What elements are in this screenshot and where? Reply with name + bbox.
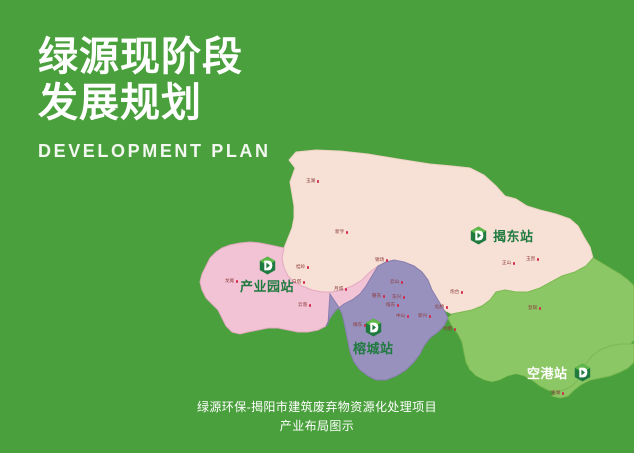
caption-line-2: 产业布局图示 (0, 417, 634, 436)
green-leaf-logo-icon (470, 226, 487, 245)
city-marker: 玉湖 (306, 179, 319, 184)
development-plan-poster: 绿源现阶段 发展规划 DEVELOPMENT PLAN 揭东站 产业园站 (0, 0, 634, 453)
city-marker: 云落 (298, 303, 311, 308)
station-label-jiedong: 揭东站 (493, 226, 534, 245)
green-leaf-logo-icon (574, 363, 591, 382)
station-label-rongcheng: 榕城站 (353, 341, 394, 356)
city-marker: 新亨 (335, 230, 348, 235)
city-marker: 月城 (334, 287, 347, 292)
caption-block: 绿源环保-揭阳市建筑废弃物资源化处理项目 产业布局图示 (0, 398, 634, 436)
green-leaf-logo-icon (259, 256, 276, 275)
page-subtitle-english: DEVELOPMENT PLAN (38, 140, 271, 162)
city-marker: 榕东 (386, 303, 399, 308)
city-marker: 锡场 (375, 258, 388, 263)
title-block: 绿源现阶段 发展规划 DEVELOPMENT PLAN (38, 34, 271, 162)
city-marker: 桂岭 (296, 265, 309, 270)
page-title-line-1: 绿源现阶段 (38, 34, 271, 80)
city-marker: 玉窖 (526, 257, 539, 262)
green-leaf-logo-icon (365, 318, 382, 337)
station-marker-jiedong[interactable]: 揭东站 (470, 226, 534, 245)
city-marker: 登岗 (528, 306, 541, 311)
station-label-konggang: 空港站 (527, 363, 568, 382)
caption-line-1: 绿源环保-揭阳市建筑废弃物资源化处理项目 (0, 398, 634, 417)
station-marker-chanyeyuan[interactable]: 产业园站 (240, 256, 294, 296)
station-marker-rongcheng[interactable]: 榕城站 (353, 318, 394, 358)
city-marker: 龙尾 (225, 279, 238, 284)
city-marker: 中山 (396, 314, 409, 319)
city-marker: 东兴 (392, 295, 405, 300)
station-marker-konggang[interactable]: 空港站 (527, 363, 591, 382)
city-marker: 地都 (443, 327, 456, 332)
city-marker: 正山 (502, 261, 515, 266)
city-marker: 炮台 (450, 290, 463, 295)
page-title-line-2: 发展规划 (38, 80, 271, 126)
station-label-chanyeyuan: 产业园站 (240, 279, 294, 294)
city-marker: 云山 (390, 280, 403, 285)
city-marker: 渔湖 (551, 391, 564, 396)
city-marker: 磐东 (372, 294, 385, 299)
city-marker: 仙桥 (435, 305, 448, 310)
city-marker: 新兴 (418, 314, 431, 319)
